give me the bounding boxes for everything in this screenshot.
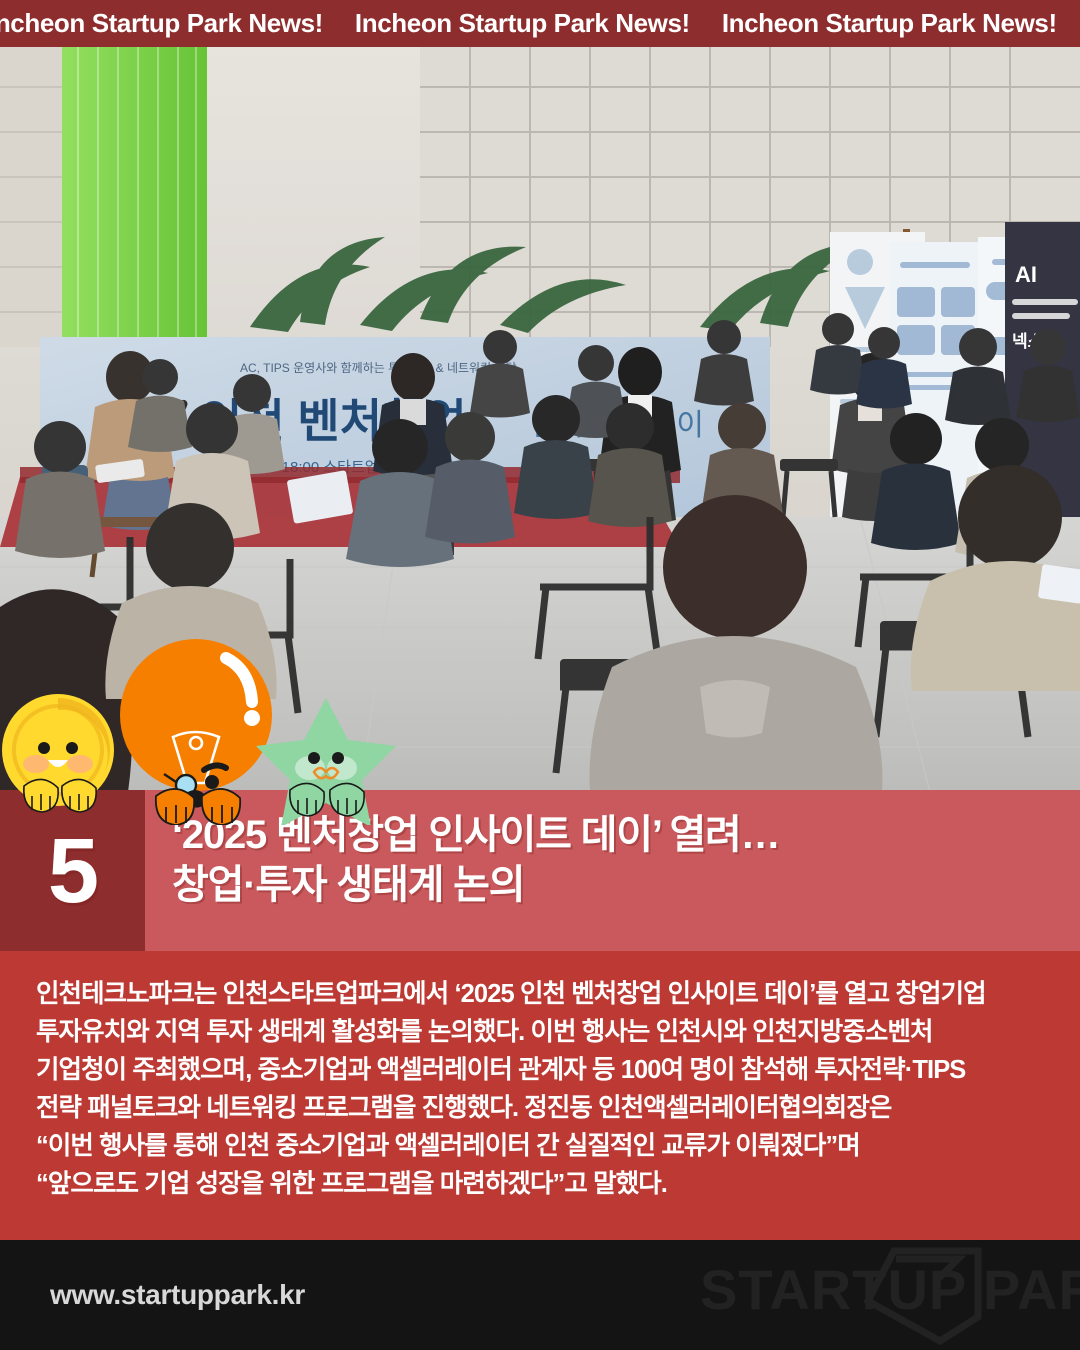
body-line: 투자유치와 지역 투자 생태계 활성화를 논의했다. 이번 행사는 인천시와 인… [36, 1013, 1044, 1051]
rank-number: 5 [48, 825, 97, 917]
event-photo: AC, TIPS 운영사와 함께하는 투자전략 & 네트워킹 맞담 2025 인… [0, 47, 1080, 792]
body-line: 인천테크노파크는 인천스타트업파크에서 ‘2025 인천 벤처창업 인사이트 데… [36, 975, 1044, 1013]
marquee-item: Incheon Startup Park News! [722, 8, 1080, 39]
article-title: ‘2025 벤처창업 인사이트 데이’ 열려… 창업·투자 생태계 논의 [172, 810, 1056, 911]
news-marquee-banner: Incheon Startup Park News! Incheon Start… [0, 0, 1080, 47]
body-line: 기업청이 주최했으며, 중소기업과 액셀러레이터 관계자 등 100여 명이 참… [36, 1051, 1044, 1089]
body-line: “이번 행사를 통해 인천 중소기업과 액셀러레이터 간 실질적인 교류가 이뤄… [36, 1127, 1044, 1165]
marquee-item: Incheon Startup Park News! [0, 8, 355, 39]
article-body: 인천테크노파크는 인천스타트업파크에서 ‘2025 인천 벤처창업 인사이트 데… [0, 951, 1080, 1240]
startup-park-watermark-logo: STARTUP PARK [696, 1243, 1080, 1347]
body-line: 전략 패널토크와 네트워킹 프로그램을 진행했다. 정진동 인천액셀러레이터협의… [36, 1089, 1044, 1127]
body-line: “앞으로도 기업 성장을 위한 프로그램을 마련하겠다”고 말했다. [36, 1165, 1044, 1203]
marquee-item: Incheon Startup Park News! [355, 8, 722, 39]
title-line-2: 창업·투자 생태계 논의 [172, 860, 1056, 910]
footer-website-url[interactable]: www.startuppark.kr [50, 1279, 305, 1311]
marquee-track: Incheon Startup Park News! Incheon Start… [0, 0, 1080, 47]
article-title-band: 5 ‘2025 벤처창업 인사이트 데이’ 열려… 창업·투자 생태계 논의 [0, 790, 1080, 951]
title-line-1: ‘2025 벤처창업 인사이트 데이’ 열려… [172, 810, 1056, 860]
page-footer: www.startuppark.kr STARTUP PARK [0, 1240, 1080, 1350]
rank-block: 5 [0, 790, 145, 951]
